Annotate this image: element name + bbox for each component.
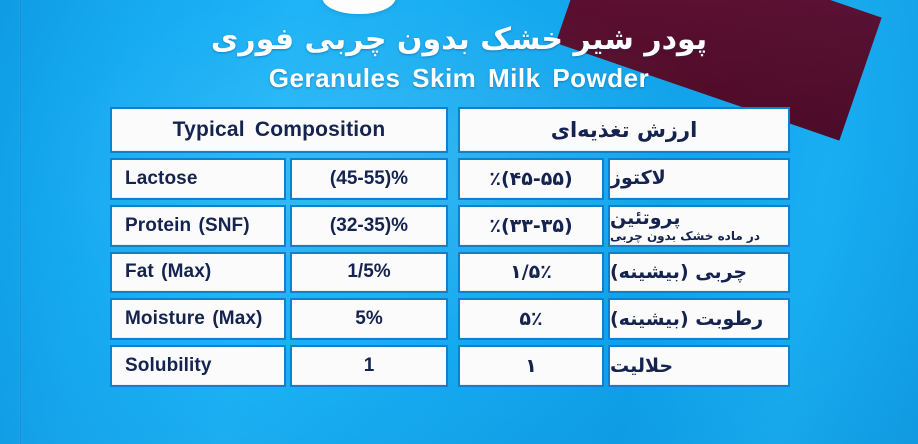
row-label-farsi-main: پروتئین xyxy=(610,209,681,228)
row-label-farsi: چربی (بیشینه) xyxy=(608,252,790,294)
row-label-farsi-main: لاکتوز xyxy=(610,169,666,188)
row-value-farsi: ۵٪ xyxy=(458,298,604,340)
white-oval-graphic xyxy=(322,0,396,14)
header-nutritional-value: ارزش تغذیه‌ای xyxy=(458,107,790,153)
table-row: Fat (Max) 1/5% ۱/۵٪ چربی (بیشینه) xyxy=(110,252,790,294)
column-gap xyxy=(448,298,458,340)
row-label-farsi: لاکتوز xyxy=(608,158,790,200)
row-half-english: Moisture (Max) 5% xyxy=(110,298,448,340)
product-title-farsi: پودر شیر خشک بدون چربی فوری xyxy=(0,18,918,62)
column-gap xyxy=(448,107,458,153)
row-label-farsi: رطوبت (بیشینه) xyxy=(608,298,790,340)
row-value-english: 1 xyxy=(290,345,448,387)
product-title-english: Geranules Skim Milk Powder xyxy=(0,63,918,93)
row-half-english: Fat (Max) 1/5% xyxy=(110,252,448,294)
row-value-english: (45-55)% xyxy=(290,158,448,200)
row-value-farsi: ۱/۵٪ xyxy=(458,252,604,294)
row-half-farsi: ۵٪ رطوبت (بیشینه) xyxy=(458,298,790,340)
row-half-english: Lactose (45-55)% xyxy=(110,158,448,200)
row-value-farsi: (۴۵-۵۵)٪ xyxy=(458,158,604,200)
title-block: پودر شیر خشک بدون چربی فوری Geranules Sk… xyxy=(0,18,918,93)
table-row: Solubility 1 ۱ حلالیت xyxy=(110,345,790,387)
column-gap xyxy=(448,205,458,247)
row-half-farsi: ۱/۵٪ چربی (بیشینه) xyxy=(458,252,790,294)
row-label-farsi-main: چربی (بیشینه) xyxy=(610,263,747,282)
column-gap xyxy=(448,252,458,294)
table-row: Lactose (45-55)% (۴۵-۵۵)٪ لاکتوز xyxy=(110,158,790,200)
row-label-farsi-main: رطوبت (بیشینه) xyxy=(610,310,763,329)
row-half-farsi: (۴۵-۵۵)٪ لاکتوز xyxy=(458,158,790,200)
row-half-farsi: ۱ حلالیت xyxy=(458,345,790,387)
row-label-farsi: حلالیت xyxy=(608,345,790,387)
row-half-english: Protein (SNF) (32-35)% xyxy=(110,205,448,247)
header-half-english: Typical Composition xyxy=(110,107,448,153)
row-half-farsi: (۳۳-۳۵)٪ پروتئین در ماده خشک بدون چربی xyxy=(458,205,790,247)
row-value-english: 5% xyxy=(290,298,448,340)
table-row: Moisture (Max) 5% ۵٪ رطوبت (بیشینه) xyxy=(110,298,790,340)
row-value-english: 1/5% xyxy=(290,252,448,294)
table-row: Protein (SNF) (32-35)% (۳۳-۳۵)٪ پروتئین … xyxy=(110,205,790,247)
row-label-english: Moisture (Max) xyxy=(110,298,286,340)
row-half-english: Solubility 1 xyxy=(110,345,448,387)
row-label-farsi-main: حلالیت xyxy=(610,357,673,376)
row-label-farsi: پروتئین در ماده خشک بدون چربی xyxy=(608,205,790,247)
header-typical-composition: Typical Composition xyxy=(110,107,448,153)
row-label-english: Lactose xyxy=(110,158,286,200)
header-half-farsi: ارزش تغذیه‌ای xyxy=(458,107,790,153)
column-gap xyxy=(448,345,458,387)
nutrition-table: Typical Composition ارزش تغذیه‌ای Lactos… xyxy=(110,107,790,387)
row-label-english: Protein (SNF) xyxy=(110,205,286,247)
row-value-farsi: (۳۳-۳۵)٪ xyxy=(458,205,604,247)
row-value-english: (32-35)% xyxy=(290,205,448,247)
row-value-farsi: ۱ xyxy=(458,345,604,387)
table-header-row: Typical Composition ارزش تغذیه‌ای xyxy=(110,107,790,153)
column-gap xyxy=(448,158,458,200)
row-label-english: Fat (Max) xyxy=(110,252,286,294)
row-label-english: Solubility xyxy=(110,345,286,387)
row-label-farsi-subtext: در ماده خشک بدون چربی xyxy=(610,230,760,242)
